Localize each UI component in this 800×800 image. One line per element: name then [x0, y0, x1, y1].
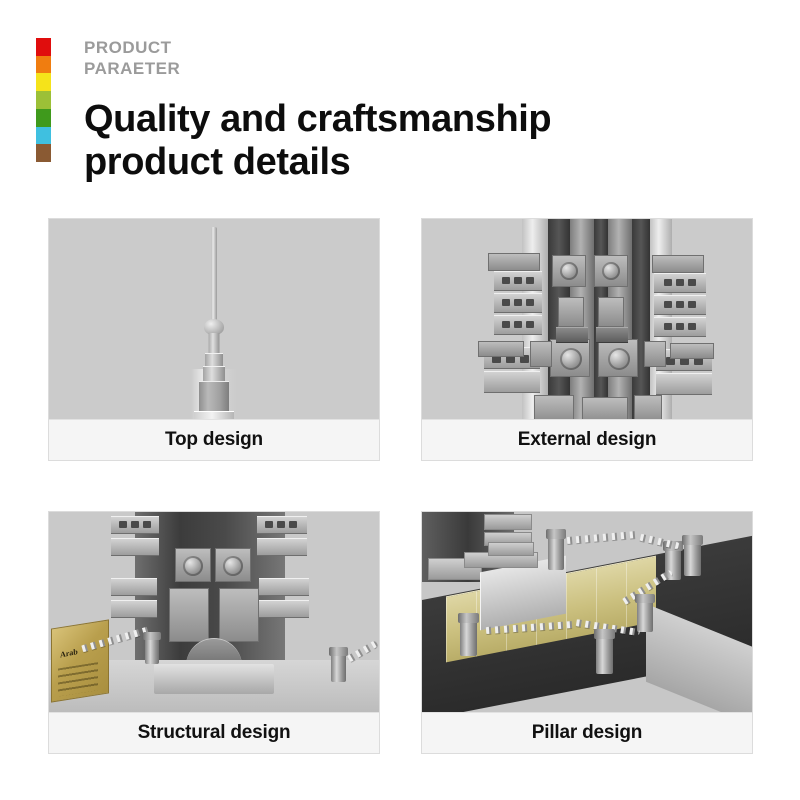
tower-window [526, 321, 534, 328]
tower-porthole [608, 348, 630, 370]
tower-porthole [602, 262, 620, 280]
tower-brick [556, 327, 588, 343]
spire-base [194, 411, 234, 419]
structural-brick [111, 538, 159, 556]
gallery-card-pillar-design[interactable]: Pillar design [421, 511, 753, 754]
eyebrow-line-1: PRODUCT [84, 38, 180, 59]
gallery-card-external-design[interactable]: External design [421, 218, 753, 461]
structural-bollard [145, 638, 159, 664]
pillar-bollard-cap [458, 613, 479, 623]
pillar-bollard [684, 542, 701, 576]
swatch-yellow-green [36, 91, 51, 109]
pillar-bollard [548, 536, 564, 570]
swatch-yellow [36, 73, 51, 91]
tower-window [688, 301, 696, 308]
tower-column-right-dark [632, 219, 650, 419]
spire-segment-upper [205, 353, 223, 367]
tower-window [514, 321, 522, 328]
tower-window [688, 323, 696, 330]
structural-window [143, 521, 151, 528]
tower-greeble [530, 341, 552, 367]
structural-window [119, 521, 127, 528]
structural-panel [169, 588, 209, 642]
eyebrow-label: PRODUCT PARAETER [84, 38, 180, 79]
tower-bracket [558, 297, 584, 327]
tower-porthole [560, 262, 578, 280]
pillar-bollard [637, 600, 653, 632]
tower-window [514, 299, 522, 306]
headline-line-2: product details [84, 141, 551, 184]
tower-greeble [478, 341, 524, 357]
caption-pillar-design: Pillar design [422, 712, 752, 753]
headline-line-1: Quality and craftsmanship [84, 98, 551, 141]
pillar-bollard-cap [682, 535, 703, 545]
tower-greeble [644, 341, 666, 367]
tower-window [664, 301, 672, 308]
structural-sign-lines [58, 662, 98, 696]
gallery-card-structural-design[interactable]: Arab Structural design [48, 511, 380, 754]
structural-brick [111, 600, 157, 618]
structural-plinth [154, 664, 274, 694]
structural-sign-text: Arab [60, 647, 78, 659]
structural-porthole [183, 556, 203, 576]
tower-base-slab [534, 395, 574, 419]
pillar-bollard [460, 620, 477, 656]
color-swatch-bar [36, 38, 51, 162]
tower-window [514, 277, 522, 284]
structural-brick [259, 578, 309, 596]
swatch-orange [36, 56, 51, 74]
tower-bracket [598, 297, 624, 327]
caption-top-design: Top design [49, 419, 379, 460]
structural-bollard [331, 654, 346, 682]
pillar-bollard-cap [594, 629, 615, 639]
structural-brick [259, 600, 309, 618]
swatch-green [36, 109, 51, 127]
tower-greeble [488, 253, 540, 271]
photo-external-design [422, 219, 752, 419]
pillar-bollard-cap [546, 529, 566, 539]
detail-gallery-grid: Top design [48, 218, 753, 754]
structural-window [265, 521, 273, 528]
structural-window [289, 521, 297, 528]
tower-window [526, 299, 534, 306]
eyebrow-line-2: PARAETER [84, 59, 180, 80]
photo-pillar-design [422, 512, 752, 712]
tower-brick [484, 371, 540, 393]
pillar-bollard [596, 636, 613, 674]
page-header: PRODUCT PARAETER Quality and craftsmansh… [0, 0, 800, 200]
tower-base-slab [634, 395, 662, 419]
brick-tower [422, 219, 752, 419]
gallery-card-top-design[interactable]: Top design [48, 218, 380, 461]
tower-window [664, 323, 672, 330]
tower-base-slab [582, 397, 628, 419]
structural-brick [257, 538, 307, 556]
swatch-red [36, 38, 51, 56]
tower-greeble [652, 255, 704, 273]
tower-window [526, 277, 534, 284]
tower-brick [656, 373, 712, 395]
structural-bollard-cap [329, 647, 348, 656]
photo-structural-design: Arab [49, 512, 379, 712]
tower-window [664, 279, 672, 286]
photo-top-design [49, 219, 379, 419]
caption-external-design: External design [422, 419, 752, 460]
spire-segment-lower [203, 366, 225, 382]
pillar-bollard-cap [635, 594, 655, 603]
tower-porthole [560, 348, 582, 370]
product-detail-page: PRODUCT PARAETER Quality and craftsmansh… [0, 0, 800, 800]
gallery-row-1: Top design [48, 218, 753, 461]
tower-brick [596, 327, 628, 343]
structural-window [277, 521, 285, 528]
tower-window [502, 277, 510, 284]
tower-window [676, 279, 684, 286]
tower-window [502, 321, 510, 328]
structural-bollard-cap [143, 632, 161, 640]
tower-window [676, 301, 684, 308]
swatch-cyan [36, 127, 51, 145]
tower-window [676, 323, 684, 330]
structural-porthole [223, 556, 243, 576]
swatch-brown [36, 144, 51, 162]
gallery-row-2: Arab Structural design [48, 511, 753, 754]
caption-structural-design: Structural design [49, 712, 379, 753]
structural-window [131, 521, 139, 528]
structural-brick [111, 578, 157, 596]
spire-neck [209, 333, 220, 355]
page-title: Quality and craftsmanship product detail… [84, 98, 551, 184]
tower-window [688, 279, 696, 286]
structural-panel [219, 588, 259, 642]
tower-window [502, 299, 510, 306]
spire-rod [211, 227, 217, 323]
tower-greeble [670, 343, 714, 359]
pillar-brick [484, 514, 532, 530]
pillar-step [488, 542, 534, 556]
structural-sign: Arab [51, 619, 109, 702]
